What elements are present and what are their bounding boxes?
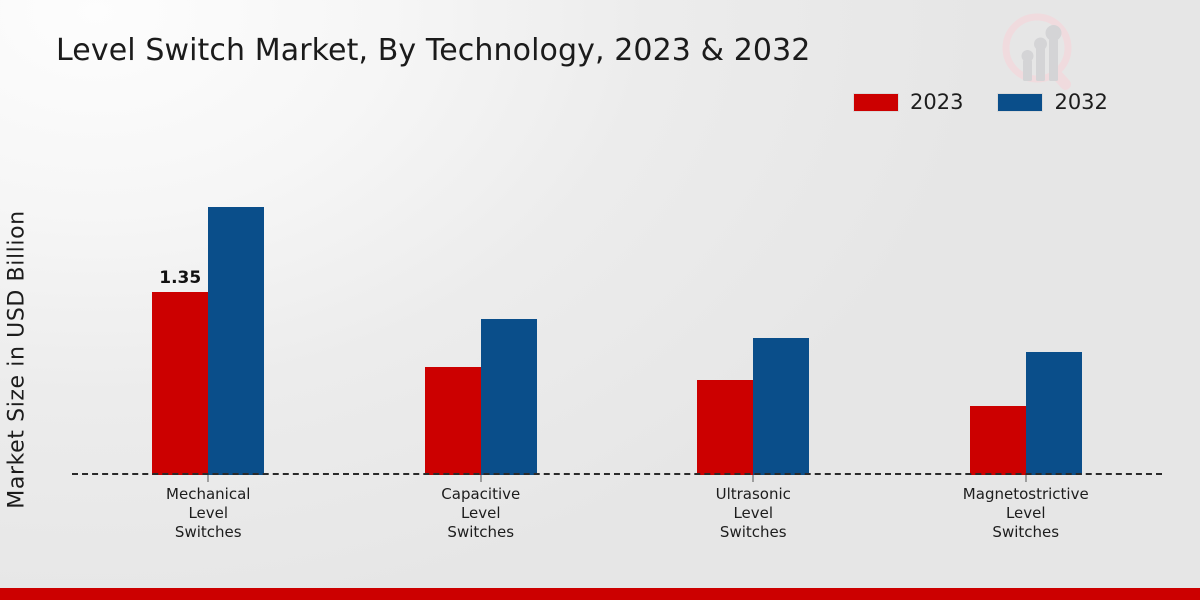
x-axis-tick [1025,475,1026,482]
chart-legend: 2023 2032 [853,90,1108,114]
bar-2023-magnetostrictive[interactable] [970,406,1026,475]
bar-pair [970,150,1082,475]
legend-item-2023[interactable]: 2023 [853,90,963,114]
plot-area: 1.35 Mechanical Level Switches Capacitiv… [72,150,1162,475]
legend-label-2023: 2023 [910,90,963,114]
bar-group-capacitive: Capacitive Level Switches [345,150,618,475]
bar-pair [697,150,809,475]
x-axis-tick [753,475,754,482]
x-label-capacitive: Capacitive Level Switches [441,485,520,542]
footer-accent-bar [0,588,1200,600]
chart-title: Level Switch Market, By Technology, 2023… [56,33,811,68]
bar-2032-capacitive[interactable] [481,319,537,475]
legend-label-2032: 2032 [1054,90,1107,114]
legend-swatch-2023 [853,93,899,112]
x-axis-tick [208,475,209,482]
bar-groups: 1.35 Mechanical Level Switches Capacitiv… [72,150,1162,475]
bar-2032-ultrasonic[interactable] [753,338,809,475]
bar-pair [425,150,537,475]
bar-2023-ultrasonic[interactable] [697,380,753,475]
chart-figure: Level Switch Market, By Technology, 2023… [0,0,1200,600]
x-label-mechanical: Mechanical Level Switches [166,485,250,542]
bar-group-magnetostrictive: Magnetostrictive Level Switches [890,150,1163,475]
bar-chart-icon [1022,25,1062,81]
x-label-magnetostrictive: Magnetostrictive Level Switches [963,485,1089,542]
x-axis-tick [480,475,481,482]
legend-swatch-2032 [997,93,1043,112]
y-axis-title: Market Size in USD Billion [5,180,30,540]
bar-value-label: 1.35 [159,268,201,288]
legend-item-2032[interactable]: 2032 [997,90,1107,114]
x-label-ultrasonic: Ultrasonic Level Switches [716,485,791,542]
bar-pair: 1.35 [152,150,264,475]
bar-group-ultrasonic: Ultrasonic Level Switches [617,150,890,475]
market-research-logo-watermark [995,8,1087,100]
bar-group-mechanical: 1.35 Mechanical Level Switches [72,150,345,475]
bar-2032-mechanical[interactable] [208,207,264,475]
bar-2023-mechanical[interactable]: 1.35 [152,292,208,475]
x-axis-baseline [72,473,1162,475]
bar-2023-capacitive[interactable] [425,367,481,475]
bar-2032-magnetostrictive[interactable] [1026,352,1082,475]
